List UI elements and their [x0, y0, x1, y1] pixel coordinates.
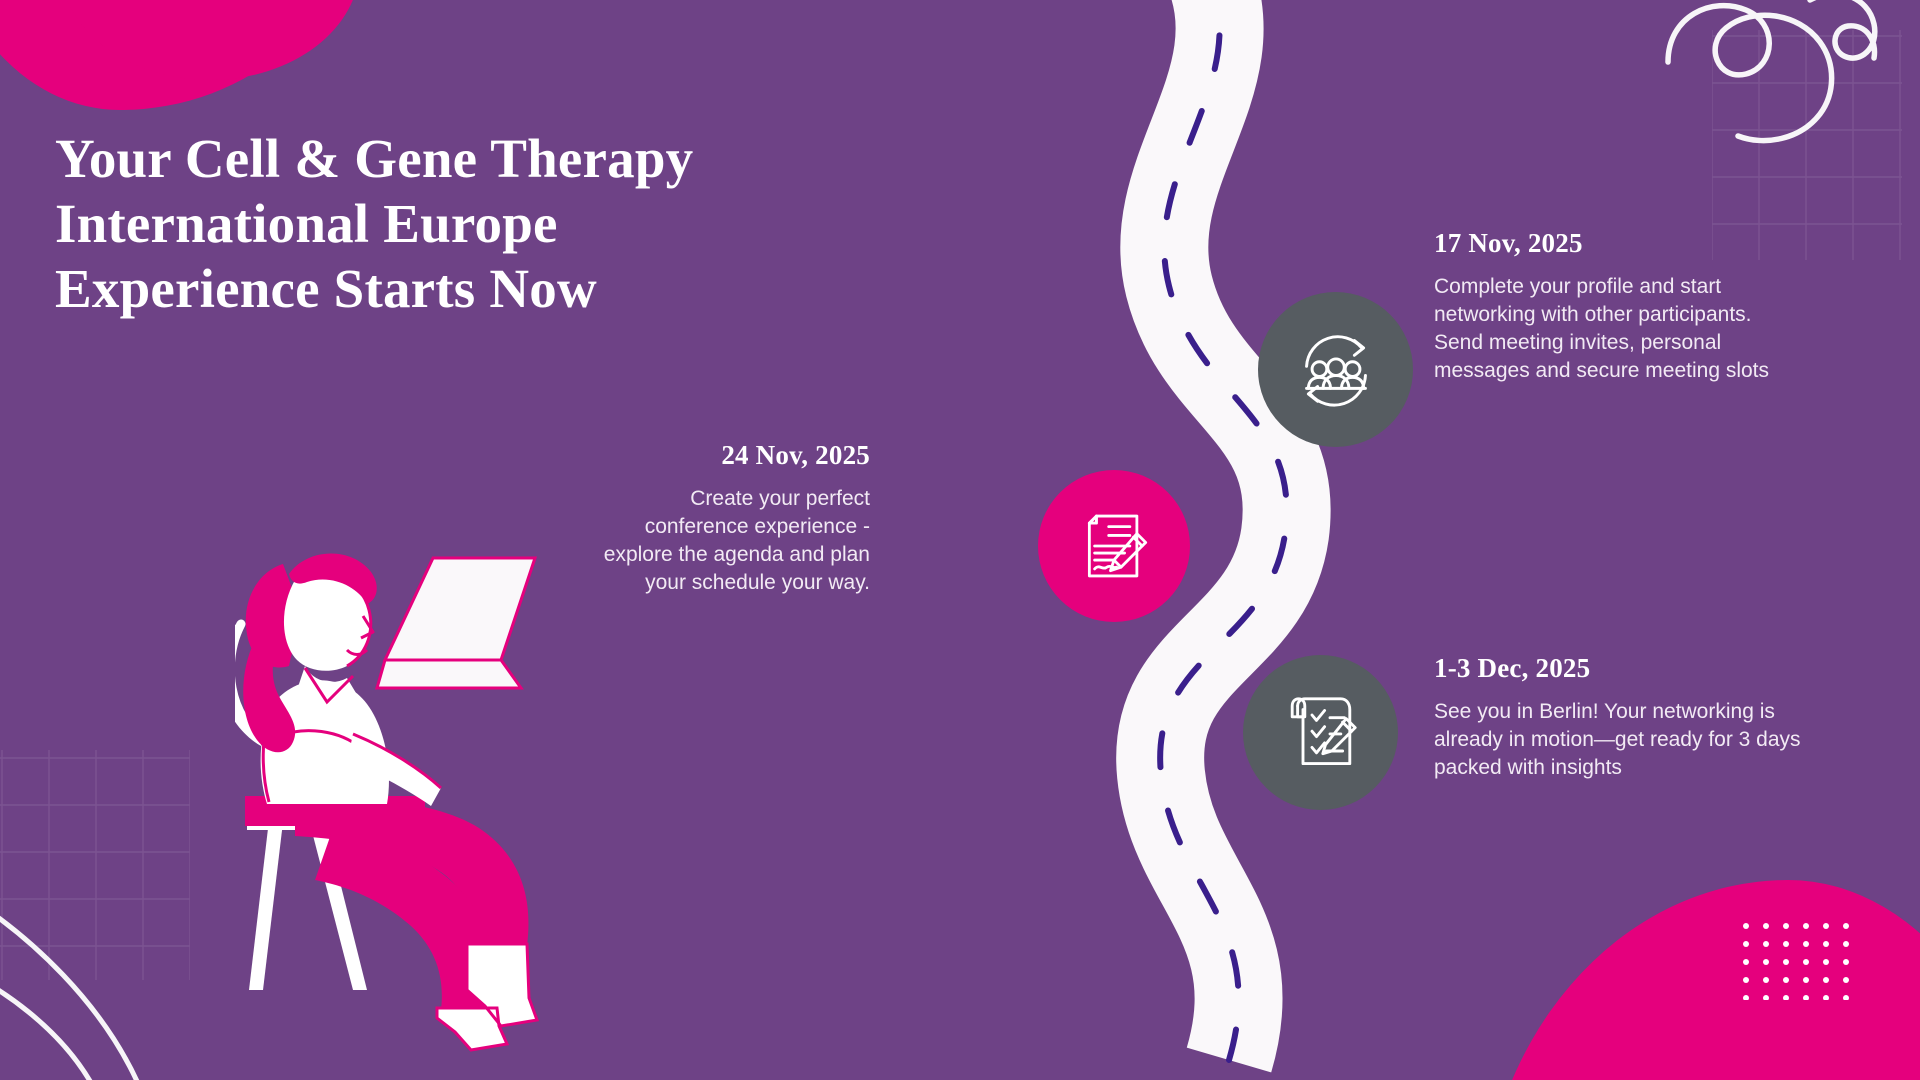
grid-pattern-bottom-left [0, 750, 190, 980]
page-title-line-1: Your Cell & Gene Therapy [55, 127, 815, 192]
dot-grid-bottom-right [1740, 920, 1860, 1000]
document-pencil-icon [1070, 502, 1158, 590]
pink-blob-top-left [0, 0, 360, 110]
page-title-line-3: Experience Starts Now [55, 257, 815, 322]
page-title: Your Cell & Gene Therapy International E… [55, 127, 815, 322]
milestone-agenda: 24 Nov, 2025 Create your perfect confere… [600, 440, 870, 597]
checklist-pencil-icon [1276, 688, 1366, 778]
woman-with-laptop-illustration [235, 520, 635, 1060]
milestone-networking-body: Complete your profile and start networki… [1434, 273, 1804, 385]
slide-canvas: Your Cell & Gene Therapy International E… [0, 0, 1920, 1080]
milestone-networking: 17 Nov, 2025 Complete your profile and s… [1434, 228, 1804, 385]
swirl-line-top-right [1660, 0, 1890, 160]
pink-blob-bottom-right [1480, 880, 1920, 1080]
milestone-agenda-icon-circle [1038, 470, 1190, 622]
milestone-networking-date: 17 Nov, 2025 [1434, 228, 1804, 259]
milestone-event: 1-3 Dec, 2025 See you in Berlin! Your ne… [1434, 653, 1824, 782]
milestone-agenda-body: Create your perfect conference experienc… [600, 485, 870, 597]
milestone-event-icon-circle [1243, 655, 1398, 810]
milestone-event-date: 1-3 Dec, 2025 [1434, 653, 1824, 684]
milestone-networking-icon-circle [1258, 292, 1413, 447]
grid-pattern-top-right [1712, 30, 1902, 260]
page-title-line-2: International Europe [55, 192, 815, 257]
milestone-event-body: See you in Berlin! Your networking is al… [1434, 698, 1824, 782]
arc-lines-bottom-left [0, 860, 230, 1080]
milestone-agenda-date: 24 Nov, 2025 [600, 440, 870, 471]
people-network-icon [1290, 324, 1382, 416]
pink-blob-top-left-circle [60, 0, 360, 80]
